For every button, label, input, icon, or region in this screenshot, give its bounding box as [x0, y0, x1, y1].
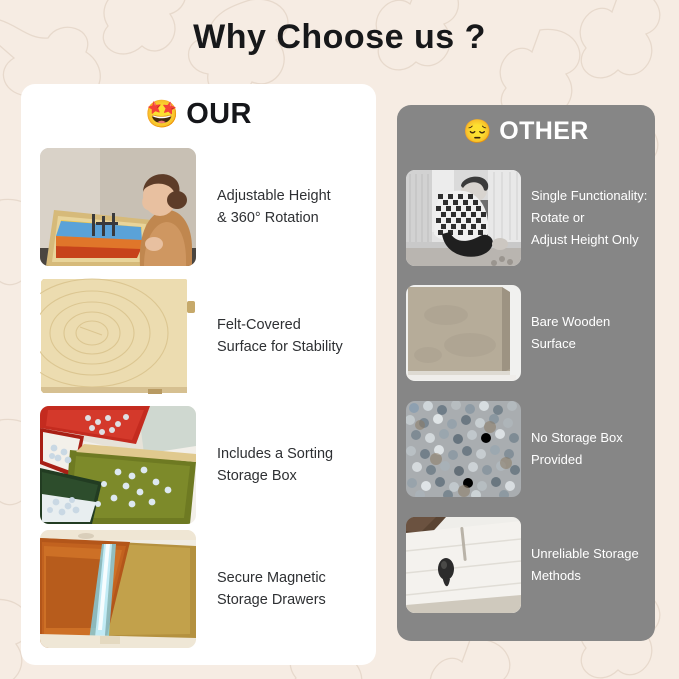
other-feature-text-4: Unreliable Storage Methods	[531, 543, 639, 587]
our-feature-row-2: Felt-Covered Surface for Stability	[40, 277, 360, 395]
star-struck-emoji: 🤩	[145, 101, 179, 128]
page-title: Why Choose us ?	[0, 18, 679, 57]
other-feature-row-1: Single Functionality: Rotate or Adjust H…	[406, 170, 648, 266]
colored-sorting-trays-with-puzzle-pieces-photo	[40, 406, 196, 524]
other-feature-row-2: Bare Wooden Surface	[406, 285, 648, 381]
our-feature-text-2: Felt-Covered Surface for Stability	[217, 314, 343, 358]
bare-wooden-board-photo	[406, 285, 521, 381]
our-feature-row-4: Secure Magnetic Storage Drawers	[40, 530, 360, 648]
woman-with-adjustable-puzzle-board-photo	[40, 148, 196, 266]
frustrated-man-on-floor-photo	[406, 170, 521, 266]
white-plank-with-black-knob-photo	[406, 517, 521, 613]
disappointed-face-emoji: 😔	[463, 120, 492, 143]
other-panel: 😔 OTHER	[397, 105, 655, 641]
our-feature-row-1: Adjustable Height & 360° Rotation	[40, 148, 360, 266]
other-feature-row-4: Unreliable Storage Methods	[406, 517, 648, 613]
our-panel: 🤩 OUR	[21, 84, 376, 665]
our-feature-text-3: Includes a Sorting Storage Box	[217, 443, 333, 487]
other-feature-text-3: No Storage Box Provided	[531, 427, 623, 471]
our-feature-text-4: Secure Magnetic Storage Drawers	[217, 567, 326, 611]
our-panel-title: OUR	[186, 98, 252, 131]
other-panel-header: 😔 OTHER	[397, 117, 655, 146]
magnetic-wooden-drawer-photo	[40, 530, 196, 648]
our-panel-header: 🤩 OUR	[21, 98, 376, 131]
our-feature-row-3: Includes a Sorting Storage Box	[40, 406, 360, 524]
other-feature-text-2: Bare Wooden Surface	[531, 311, 610, 355]
other-feature-text-1: Single Functionality: Rotate or Adjust H…	[531, 185, 647, 250]
other-panel-title: OTHER	[499, 117, 589, 146]
scattered-puzzle-pieces-photo	[406, 401, 521, 497]
our-feature-text-1: Adjustable Height & 360° Rotation	[217, 185, 331, 229]
other-feature-row-3: No Storage Box Provided	[406, 401, 648, 497]
felt-covered-wooden-board-photo	[40, 277, 196, 395]
